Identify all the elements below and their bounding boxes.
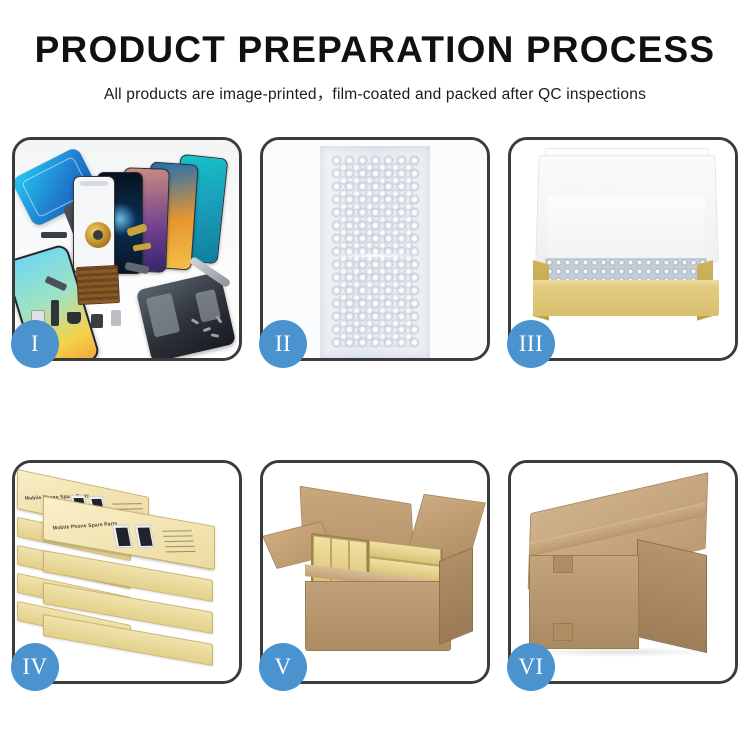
process-grid: I II (12, 137, 738, 684)
step-badge-2: II (259, 320, 307, 368)
step-badge-1: I (11, 320, 59, 368)
step-badge-4: IV (11, 643, 59, 691)
wrap-seam (332, 254, 418, 257)
step-panel-6: VI (508, 460, 738, 684)
step-panel-4: Mobile Phone Spare Parts Mobile Phone Sp… (12, 460, 242, 684)
carton-front-wall (305, 581, 451, 651)
step-panel-5: V (260, 460, 490, 684)
part-camera-module (67, 312, 81, 324)
speaker-component (85, 222, 111, 248)
box-stack: Mobile Phone Spare Parts Mobile Phone Sp… (15, 477, 239, 673)
carton-shadow (525, 647, 711, 657)
page-title: PRODUCT PREPARATION PROCESS (0, 30, 750, 71)
step-badge-6: VI (507, 643, 555, 691)
sealed-carton-front (529, 555, 639, 649)
step-panel-1: I (12, 137, 242, 361)
header: PRODUCT PREPARATION PROCESS All products… (0, 0, 750, 104)
screws-group (189, 316, 229, 342)
box-label-front: Mobile Phone Spare Parts (52, 521, 118, 532)
step-panel-2: II (260, 137, 490, 361)
foam-liner (547, 196, 705, 262)
carton-seal-top (553, 555, 573, 573)
part-button (111, 310, 121, 326)
ic-chip-tray (76, 265, 120, 305)
box-front-wall (533, 286, 719, 316)
carton-side-wall (439, 547, 473, 645)
part-antenna (51, 300, 59, 326)
box-phone-image-3 (112, 525, 133, 549)
infographic-page: PRODUCT PREPARATION PROCESS All products… (0, 0, 750, 750)
sealed-carton-side (637, 539, 707, 653)
bubble-wrap-sheet (320, 146, 430, 358)
part-connector-strip (41, 232, 67, 238)
part-vibrator (91, 314, 103, 328)
step-panel-3: III (508, 137, 738, 361)
step-badge-3: III (507, 320, 555, 368)
carton-seal-bottom (553, 623, 573, 641)
page-subtitle: All products are image-printed，film-coat… (0, 82, 750, 104)
box-phone-image-4 (134, 524, 155, 548)
step-badge-5: V (259, 643, 307, 691)
phone-screen-fan (67, 154, 239, 274)
